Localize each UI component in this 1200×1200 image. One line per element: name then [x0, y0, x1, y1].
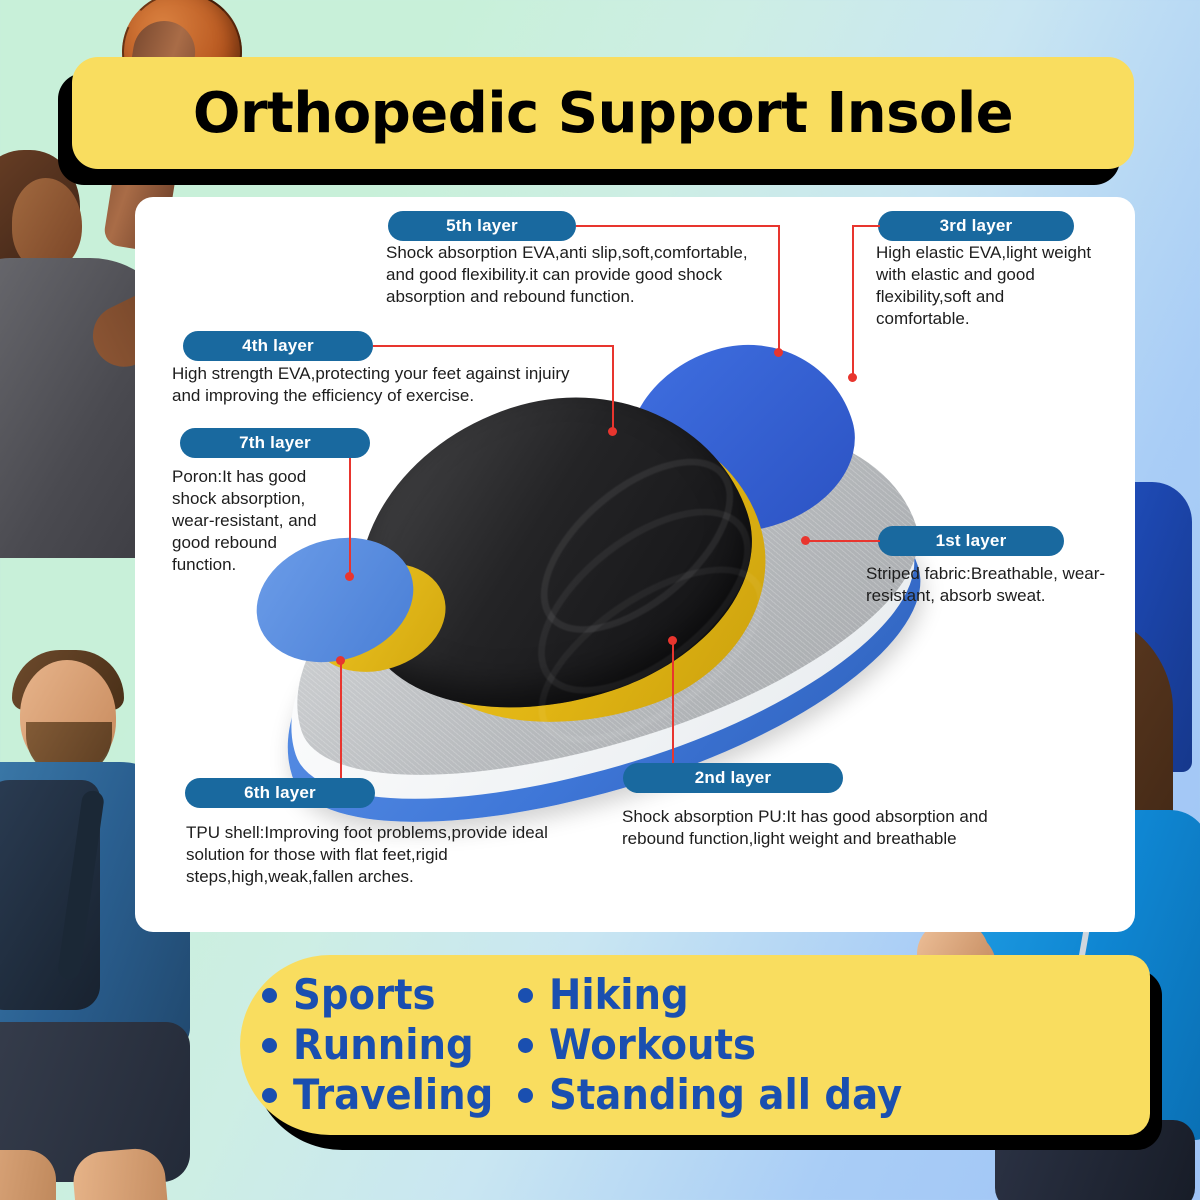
connector-dot-layer4: [608, 427, 617, 436]
bullet-icon: [262, 988, 277, 1003]
callout-text-layer3: High elastic EVA,light weight with elast…: [876, 242, 1096, 330]
connector-dot-layer2: [668, 636, 677, 645]
use-item-running: Running: [262, 1020, 508, 1070]
connector-dot-layer6: [336, 656, 345, 665]
callout-text-layer7: Poron:It has good shock absorption, wear…: [172, 466, 337, 576]
use-item-standing-all-day: Standing all day: [518, 1070, 1150, 1120]
callout-text-layer4: High strength EVA,protecting your feet a…: [172, 363, 572, 407]
runner-backpack-strap: [57, 789, 105, 980]
uses-column-left: Sports Running Traveling: [240, 970, 508, 1120]
connector-line-layer4-vertical: [612, 345, 614, 431]
runner-head: [20, 660, 116, 772]
callout-text-layer1: Striped fabric:Breathable, wear-resistan…: [866, 563, 1116, 607]
player-face: [12, 178, 82, 270]
callout-badge-layer3[interactable]: 3rd layer: [878, 211, 1074, 241]
runner-backpack: [0, 780, 100, 1010]
use-label: Running: [293, 1024, 474, 1066]
connector-line-layer4: [373, 345, 614, 347]
use-label: Traveling: [293, 1074, 493, 1116]
callout-badge-layer6[interactable]: 6th layer: [185, 778, 375, 808]
bullet-icon: [262, 1038, 277, 1053]
connector-dot-layer5: [774, 348, 783, 357]
bullet-icon: [518, 1038, 533, 1053]
callout-badge-layer5[interactable]: 5th layer: [388, 211, 576, 241]
callout-badge-layer1[interactable]: 1st layer: [878, 526, 1064, 556]
runner-right-leg: [71, 1146, 181, 1200]
runner-beard: [26, 722, 112, 778]
connector-line-layer1: [808, 540, 880, 542]
callout-text-layer5: Shock absorption EVA,anti slip,soft,comf…: [386, 242, 766, 308]
connector-dot-layer7: [345, 572, 354, 581]
runner-shorts: [0, 1022, 190, 1182]
callout-badge-layer4[interactable]: 4th layer: [183, 331, 373, 361]
use-item-traveling: Traveling: [262, 1070, 508, 1120]
callout-text-layer6: TPU shell:Improving foot problems,provid…: [186, 822, 556, 888]
uses-box: Sports Running Traveling Hiking Workouts…: [240, 955, 1150, 1135]
use-label: Standing all day: [549, 1074, 902, 1116]
callout-badge-layer7[interactable]: 7th layer: [180, 428, 370, 458]
use-label: Sports: [293, 974, 436, 1016]
runner-hair: [12, 650, 124, 710]
use-item-hiking: Hiking: [518, 970, 1150, 1020]
connector-line-layer3-vertical: [852, 225, 854, 377]
page-title: Orthopedic Support Insole: [193, 81, 1013, 146]
runner-left-leg: [0, 1150, 56, 1200]
use-item-workouts: Workouts: [518, 1020, 1150, 1070]
connector-line-layer7: [349, 458, 351, 576]
use-item-sports: Sports: [262, 970, 508, 1020]
header-banner: Orthopedic Support Insole: [72, 57, 1134, 169]
connector-line-layer6: [340, 660, 342, 778]
bullet-icon: [262, 1088, 277, 1103]
callout-text-layer2: Shock absorption PU:It has good absorpti…: [622, 806, 1022, 850]
connector-line-layer5: [576, 225, 780, 227]
bullet-icon: [518, 988, 533, 1003]
callout-badge-layer2[interactable]: 2nd layer: [623, 763, 843, 793]
connector-line-layer5-vertical: [778, 225, 780, 352]
use-label: Hiking: [549, 974, 689, 1016]
use-label: Workouts: [549, 1024, 756, 1066]
bullet-icon: [518, 1088, 533, 1103]
connector-dot-layer1: [801, 536, 810, 545]
connector-line-layer2: [672, 640, 674, 763]
connector-dot-layer3: [848, 373, 857, 382]
connector-line-layer3: [852, 225, 880, 227]
uses-column-right: Hiking Workouts Standing all day: [508, 970, 1150, 1120]
